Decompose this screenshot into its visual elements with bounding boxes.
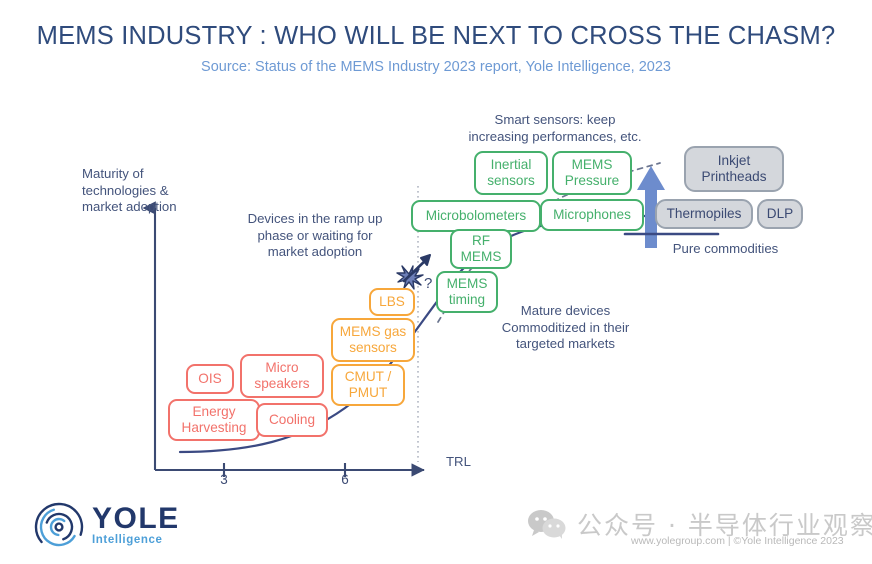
tech-box-microbolometers[interactable]: Microbolometers <box>411 200 541 232</box>
tech-box-inkjet-printheads[interactable]: Inkjet Printheads <box>684 146 784 192</box>
tech-box-micro-speakers[interactable]: Micro speakers <box>240 354 324 398</box>
tech-box-mems-gas-sensors[interactable]: MEMS gas sensors <box>331 318 415 362</box>
tech-box-cmut-pmut[interactable]: CMUT / PMUT <box>331 364 405 406</box>
tech-box-ois[interactable]: OIS <box>186 364 234 394</box>
slide-canvas: MEMS INDUSTRY : WHO WILL BE NEXT TO CROS… <box>0 0 872 564</box>
x-tick-label-3: 3 <box>214 472 234 487</box>
tech-box-mems-pressure[interactable]: MEMS Pressure <box>552 151 632 195</box>
yole-logo-mark <box>30 500 88 554</box>
tech-box-mems-timing[interactable]: MEMS timing <box>436 271 498 313</box>
tech-box-rf-mems[interactable]: RF MEMS <box>450 229 512 269</box>
tech-box-inertial-sensors[interactable]: Inertial sensors <box>474 151 548 195</box>
annotation-pure-commodities: Pure commodities <box>658 241 793 258</box>
yole-logo-text: YOLE Intelligence <box>92 503 180 547</box>
x-axis-label: TRL <box>446 454 471 471</box>
tech-box-dlp[interactable]: DLP <box>757 199 803 229</box>
tech-box-lbs[interactable]: LBS <box>369 288 415 316</box>
yole-logo: YOLE Intelligence <box>30 500 205 554</box>
tech-box-microphones[interactable]: Microphones <box>540 199 644 231</box>
tech-box-cooling[interactable]: Cooling <box>256 403 328 437</box>
chasm-question-mark: ? <box>424 275 432 292</box>
tech-box-thermopiles[interactable]: Thermopiles <box>655 199 753 229</box>
wechat-icon <box>527 509 567 539</box>
x-tick-label-6: 6 <box>335 472 355 487</box>
yole-wordmark: YOLE <box>92 503 180 535</box>
tech-box-energy-harvesting[interactable]: Energy Harvesting <box>168 399 260 441</box>
yole-logo-subtitle: Intelligence <box>92 534 180 547</box>
annotation-ramp-up: Devices in the ramp up phase or waiting … <box>225 211 405 261</box>
annotation-mature-devices: Mature devices Commoditized in their tar… <box>478 303 653 353</box>
y-axis-label: Maturity of technologies & market adopti… <box>82 166 177 216</box>
chasm-burst-icon <box>397 266 423 289</box>
copyright-notice: www.yolegroup.com | ©Yole Intelligence 2… <box>631 535 844 547</box>
annotation-smart-sensors: Smart sensors: keep increasing performan… <box>440 112 670 145</box>
